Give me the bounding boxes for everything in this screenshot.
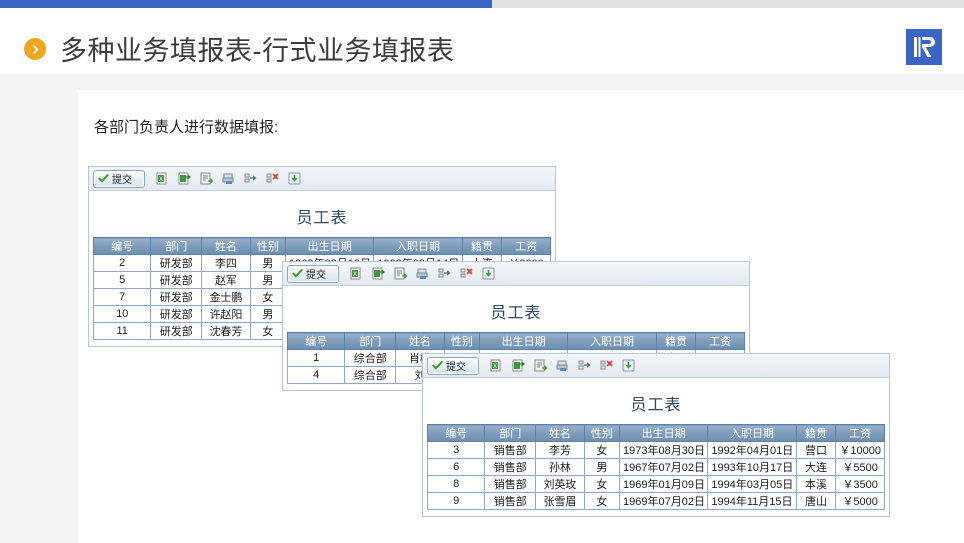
table-cell-birth[interactable]: 1973年08月30日 [620, 442, 708, 459]
table-cell-dept[interactable]: 研发部 [151, 323, 202, 340]
table-cell-salary[interactable]: ￥3500 [836, 476, 885, 493]
toolbar-icon-group: X [154, 172, 301, 185]
print-icon[interactable] [416, 267, 429, 280]
table-cell-dept[interactable]: 研发部 [151, 255, 202, 272]
insert-row-icon[interactable] [438, 267, 451, 280]
table-header-row: 编号部门姓名性别出生日期入职日期籍贯工资 [94, 238, 551, 255]
table-row[interactable]: 8销售部刘英玫女1969年01月09日1994年03月05日本溪￥3500 [428, 476, 885, 493]
table-cell-id[interactable]: 5 [94, 272, 151, 289]
toolbar-icon-group: X [488, 359, 635, 372]
export-excel-icon[interactable]: X [490, 359, 503, 372]
save-down-icon[interactable] [622, 359, 635, 372]
table-cell-dept[interactable]: 销售部 [485, 459, 536, 476]
table-cell-gender[interactable]: 男 [250, 306, 285, 323]
report-card: 各部门负责人进行数据填报: 提交 X 员工表 [78, 90, 964, 543]
table-cell-name[interactable]: 张雪眉 [536, 493, 585, 510]
table-cell-dept[interactable]: 销售部 [485, 476, 536, 493]
table-header-cell: 部门 [345, 333, 396, 350]
table-cell-gender[interactable]: 女 [584, 476, 619, 493]
table-cell-id[interactable]: 10 [94, 306, 151, 323]
table-header-cell: 工资 [502, 238, 551, 255]
table-cell-hometown[interactable]: 大连 [796, 459, 836, 476]
table-header-cell: 出生日期 [620, 425, 708, 442]
table-header-cell: 籍贯 [462, 238, 502, 255]
table-cell-hometown[interactable]: 唐山 [796, 493, 836, 510]
table-header-cell: 籍贯 [796, 425, 836, 442]
table-cell-name[interactable]: 沈春芳 [202, 323, 251, 340]
table-header-cell: 籍贯 [656, 333, 696, 350]
table-cell-hometown[interactable]: 营口 [796, 442, 836, 459]
table-cell-id[interactable]: 1 [288, 350, 345, 367]
report-container: 员工表 编号部门姓名性别出生日期入职日期籍贯工资 3销售部李芳女1973年08月… [423, 378, 889, 516]
insert-row-icon[interactable] [244, 172, 257, 185]
table-header-cell: 性别 [584, 425, 619, 442]
report-title: 员工表 [427, 382, 885, 424]
table-cell-gender[interactable]: 女 [584, 493, 619, 510]
chevron-right-icon [24, 38, 46, 60]
submit-button[interactable]: 提交 [427, 357, 479, 375]
table-header-cell: 出生日期 [286, 238, 374, 255]
delete-row-icon[interactable] [460, 267, 473, 280]
table-header-cell: 出生日期 [480, 333, 568, 350]
table-cell-name[interactable]: 金士鹏 [202, 289, 251, 306]
table-cell-name[interactable]: 李芳 [536, 442, 585, 459]
table-cell-dept[interactable]: 销售部 [485, 493, 536, 510]
delete-row-icon[interactable] [266, 172, 279, 185]
svg-text:X: X [159, 177, 163, 183]
table-header-cell: 入职日期 [374, 238, 462, 255]
report-title: 员工表 [93, 195, 551, 237]
report-toolbar: 提交 X [283, 262, 749, 286]
table-cell-salary[interactable]: ￥5000 [836, 493, 885, 510]
top-progress-fill [0, 0, 492, 8]
top-progress-bar [0, 0, 964, 8]
table-cell-name[interactable]: 刘英玫 [536, 476, 585, 493]
insert-row-icon[interactable] [578, 359, 591, 372]
table-header-cell: 工资 [696, 333, 745, 350]
table-header-cell: 编号 [288, 333, 345, 350]
toolbar-icon-group: X [348, 267, 495, 280]
submit-button-label: 提交 [446, 358, 466, 373]
page-title: 多种业务填报表-行式业务填报表 [60, 29, 455, 68]
export-word-icon[interactable] [394, 267, 407, 280]
import-excel-icon[interactable] [512, 359, 525, 372]
table-header-cell: 入职日期 [708, 425, 796, 442]
table-header-cell: 工资 [836, 425, 885, 442]
table-cell-id[interactable]: 9 [428, 493, 485, 510]
table-cell-id[interactable]: 6 [428, 459, 485, 476]
sales-department-panel: 提交 X 员工表 编号部门姓名性别出生日期入职日期籍贯工资 3销售部李芳女197… [422, 353, 890, 517]
save-down-icon[interactable] [482, 267, 495, 280]
table-header-cell: 编号 [428, 425, 485, 442]
table-cell-gender[interactable]: 女 [250, 289, 285, 306]
table-cell-name[interactable]: 李四 [202, 255, 251, 272]
export-word-icon[interactable] [534, 359, 547, 372]
table-header-cell: 姓名 [202, 238, 251, 255]
check-icon [292, 268, 303, 279]
table-cell-gender[interactable]: 男 [250, 255, 285, 272]
print-icon[interactable] [556, 359, 569, 372]
table-cell-name[interactable]: 孙林 [536, 459, 585, 476]
export-excel-icon[interactable]: X [350, 267, 363, 280]
table-header-cell: 编号 [94, 238, 151, 255]
table-cell-id[interactable]: 7 [94, 289, 151, 306]
table-header-row: 编号部门姓名性别出生日期入职日期籍贯工资 [428, 425, 885, 442]
page-header: 多种业务填报表-行式业务填报表 [0, 8, 964, 74]
table-cell-name[interactable]: 许赵阳 [202, 306, 251, 323]
submit-button[interactable]: 提交 [93, 170, 145, 188]
table-body: 3销售部李芳女1973年08月30日1992年04月01日营口￥100006销售… [428, 442, 885, 510]
table-cell-id[interactable]: 4 [288, 367, 345, 384]
table-cell-hire[interactable]: 1992年04月01日 [708, 442, 796, 459]
table-cell-hire[interactable]: 1994年03月05日 [708, 476, 796, 493]
report-title: 员工表 [287, 290, 745, 332]
table-header-cell: 姓名 [536, 425, 585, 442]
print-icon[interactable] [222, 172, 235, 185]
brand-r-logo [906, 29, 942, 65]
table-cell-gender[interactable]: 女 [250, 323, 285, 340]
table-row[interactable]: 3销售部李芳女1973年08月30日1992年04月01日营口￥10000 [428, 442, 885, 459]
submit-button-label: 提交 [306, 266, 326, 281]
table-cell-gender[interactable]: 男 [584, 459, 619, 476]
table-header-cell: 部门 [151, 238, 202, 255]
export-excel-icon[interactable]: X [156, 172, 169, 185]
table-header-row: 编号部门姓名性别出生日期入职日期籍贯工资 [288, 333, 745, 350]
table-cell-salary[interactable]: ￥10000 [836, 442, 885, 459]
check-icon [432, 360, 443, 371]
table-cell-dept[interactable]: 销售部 [485, 442, 536, 459]
table-cell-dept[interactable]: 研发部 [151, 306, 202, 323]
table-cell-hire[interactable]: 1994年11月15日 [708, 493, 796, 510]
table-cell-gender[interactable]: 女 [584, 442, 619, 459]
table-header-cell: 入职日期 [568, 333, 656, 350]
check-icon [98, 173, 109, 184]
table-cell-id[interactable]: 11 [94, 323, 151, 340]
table-cell-gender[interactable]: 男 [250, 272, 285, 289]
table-cell-hire[interactable]: 1993年10月17日 [708, 459, 796, 476]
table-cell-birth[interactable]: 1969年01月09日 [620, 476, 708, 493]
table-cell-dept[interactable]: 综合部 [345, 350, 396, 367]
employee-table: 编号部门姓名性别出生日期入职日期籍贯工资 3销售部李芳女1973年08月30日1… [427, 424, 885, 510]
table-cell-birth[interactable]: 1969年07月02日 [620, 493, 708, 510]
table-cell-dept[interactable]: 研发部 [151, 289, 202, 306]
export-word-icon[interactable] [200, 172, 213, 185]
content-area: 各部门负责人进行数据填报: 提交 X 员工表 [0, 74, 964, 543]
table-cell-id[interactable]: 3 [428, 442, 485, 459]
save-down-icon[interactable] [288, 172, 301, 185]
table-cell-name[interactable]: 赵军 [202, 272, 251, 289]
table-header-cell: 性别 [444, 333, 479, 350]
table-cell-birth[interactable]: 1967年07月02日 [620, 459, 708, 476]
table-cell-dept[interactable]: 研发部 [151, 272, 202, 289]
report-toolbar: 提交 X [89, 167, 555, 191]
delete-row-icon[interactable] [600, 359, 613, 372]
instruction-text: 各部门负责人进行数据填报: [94, 116, 278, 137]
table-cell-hometown[interactable]: 本溪 [796, 476, 836, 493]
svg-text:X: X [353, 272, 357, 278]
table-header-cell: 姓名 [396, 333, 445, 350]
table-cell-id[interactable]: 2 [94, 255, 151, 272]
table-cell-dept[interactable]: 综合部 [345, 367, 396, 384]
submit-button-label: 提交 [112, 171, 132, 186]
table-row[interactable]: 9销售部张雪眉女1969年07月02日1994年11月15日唐山￥5000 [428, 493, 885, 510]
submit-button[interactable]: 提交 [287, 265, 339, 283]
table-cell-salary[interactable]: ￥5500 [836, 459, 885, 476]
table-header-cell: 性别 [250, 238, 285, 255]
table-header-cell: 部门 [485, 425, 536, 442]
table-row[interactable]: 6销售部孙林男1967年07月02日1993年10月17日大连￥5500 [428, 459, 885, 476]
svg-text:X: X [493, 364, 497, 370]
table-cell-id[interactable]: 8 [428, 476, 485, 493]
import-excel-icon[interactable] [178, 172, 191, 185]
report-toolbar: 提交 X [423, 354, 889, 378]
import-excel-icon[interactable] [372, 267, 385, 280]
